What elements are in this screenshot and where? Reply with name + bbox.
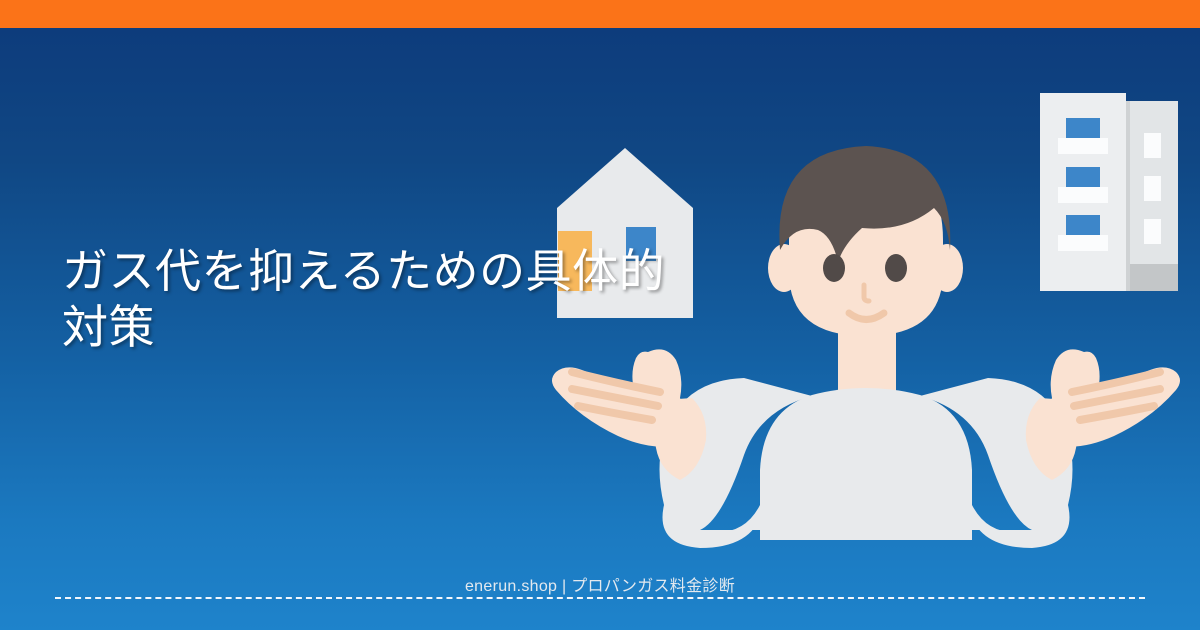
eye-right xyxy=(885,254,907,282)
building-window-white xyxy=(1058,187,1108,203)
hand-left xyxy=(552,349,690,446)
footer-divider xyxy=(55,597,1145,599)
building-icon xyxy=(1040,93,1178,291)
building-tower-window xyxy=(1144,176,1161,201)
hand-right xyxy=(1042,349,1180,446)
building-tower-window xyxy=(1144,133,1161,158)
building-window-white xyxy=(1058,235,1108,251)
building-base xyxy=(1128,264,1178,291)
footer: enerun.shop | プロパンガス料金診断 xyxy=(0,570,1200,598)
page-title-line-2: 対策 xyxy=(62,299,762,355)
building-window-blue xyxy=(1066,167,1100,187)
top-accent-bar xyxy=(0,0,1200,28)
page-title-line-1: ガス代を抑えるための具体的 xyxy=(62,243,762,299)
building-window-blue xyxy=(1066,215,1100,235)
building-tower-window xyxy=(1144,219,1161,244)
share-card-canvas: ガス代を抑えるための具体的 対策 enerun.shop | プロパンガス料金診… xyxy=(0,0,1200,630)
footer-text: enerun.shop | プロパンガス料金診断 xyxy=(465,572,735,596)
page-title: ガス代を抑えるための具体的 対策 xyxy=(62,243,762,355)
eye-left xyxy=(823,254,845,282)
building-window-white xyxy=(1058,138,1108,154)
building-window-blue xyxy=(1066,118,1100,138)
shirt-torso xyxy=(760,388,972,530)
